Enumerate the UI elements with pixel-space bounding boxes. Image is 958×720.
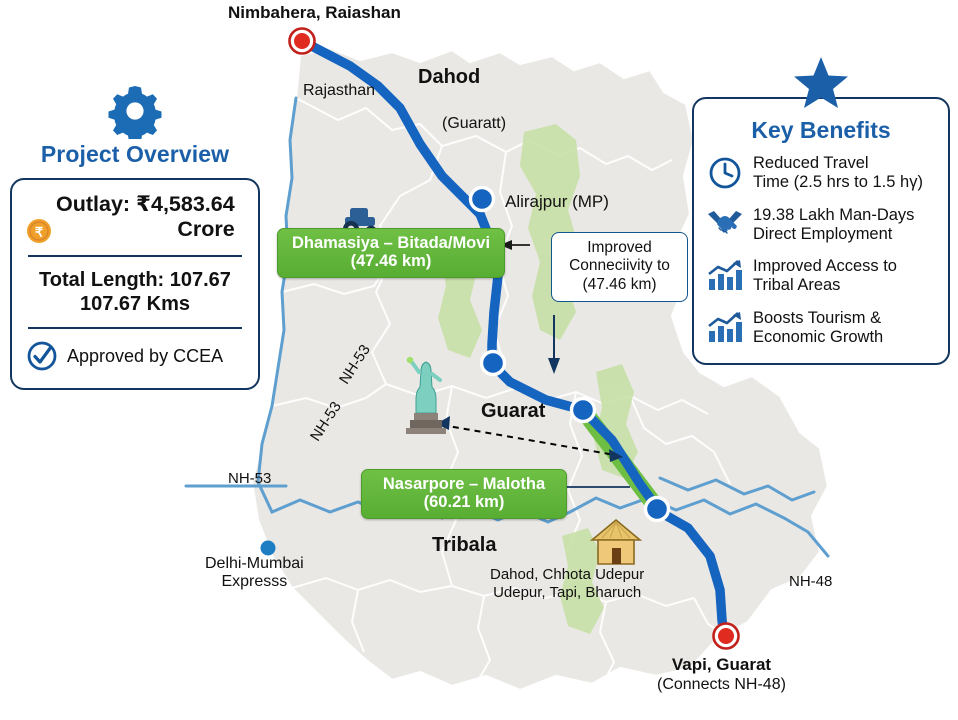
label-nh53-horizontal: NH-53 (228, 470, 271, 487)
label-vapi-line2: (Connects NH-48) (657, 675, 786, 694)
handshake-icon (706, 206, 744, 236)
route-end-marker-icon (714, 624, 739, 649)
label-delhi-mumbai-line2: Expresss (205, 573, 304, 591)
label-hut-line1: Dahod, Chhota Udepur (490, 566, 644, 584)
length-line1: Total Length: 107.67 (26, 268, 244, 292)
outlay-value: Outlay: ₹4,583.64 Crore (52, 192, 235, 243)
benefit-3-line1: Improved Access to (753, 257, 897, 276)
label-nimbahera: Nimbahera, Raiashan (228, 3, 401, 23)
callout-improved-line3: (47.46 km) (557, 276, 682, 294)
benefit-1-line1: Reduced Travel (753, 154, 923, 173)
star-icon (792, 55, 850, 111)
label-gujarat: (Guaratt) (442, 115, 506, 133)
callout-improved-line1: Improved (557, 239, 682, 257)
benefit-1-line2: Time (2.5 hrs to 1.5 hγ) (753, 173, 923, 192)
outlay-line1: Outlay: ₹4,583.64 (56, 192, 235, 217)
label-delhi-mumbai-line1: Delhi-Mumbai (205, 555, 304, 573)
callout-improved-connectivity: Improved Conneciivity to (47.46 km) (551, 232, 688, 302)
bar-chart-up-icon (706, 257, 744, 291)
project-overview-panel: Project Overview ₹ Outlay: ₹4,583.64 Cro… (10, 83, 260, 390)
label-delhi-mumbai-express: Delhi-Mumbai Expresss (205, 555, 304, 592)
callout-improved-line2: Conneciivity to (557, 257, 682, 275)
project-overview-title: Project Overview (10, 141, 260, 168)
benefit-3-line2: Tribal Areas (753, 276, 897, 295)
label-dahod: Dahod (418, 66, 480, 89)
benefit-4-line2: Economic Growth (753, 328, 883, 347)
label-hut-line2: Udepur, Tapi, Bharuch (490, 584, 644, 602)
benefit-2-line1: 19.38 Lakh Man-Days (753, 206, 914, 225)
label-tribal-districts: Dahod, Chhota Udepur Udepur, Tapi, Bharu… (490, 566, 644, 602)
label-rajasthan: Rajasthan (303, 82, 375, 100)
label-nh48: NH-48 (789, 573, 832, 590)
check-circle-icon (26, 340, 58, 372)
callout-dhamasiya-bitada: Dhamasiya – Bitada/Movi (47.46 km) (277, 228, 505, 278)
benefit-4-line1: Boosts Tourism & (753, 309, 883, 328)
key-benefits-card: Key Benefits Reduced Travel Time (2.5 hr… (692, 97, 950, 365)
gear-icon (107, 83, 163, 139)
outlay-row: ₹ Outlay: ₹4,583.64 Crore (26, 192, 244, 244)
label-guarat: Guarat (481, 400, 545, 423)
callout-dhamasiya-line1: Dhamasiya – Bitada/Movi (282, 234, 500, 252)
bar-chart-up-icon (706, 309, 744, 343)
key-benefits-title: Key Benefits (706, 117, 936, 144)
benefit-tribal-access: Improved Access to Tribal Areas (706, 257, 936, 296)
divider-2 (28, 327, 242, 329)
benefit-reduced-travel-time: Reduced Travel Time (2.5 hrs to 1.5 hγ) (706, 154, 936, 193)
benefit-direct-employment: 19.38 Lakh Man-Days Direct Employment (706, 206, 936, 245)
delhi-mumbai-express-node (261, 541, 276, 556)
benefit-tourism-growth: Boosts Tourism & Economic Growth (706, 309, 936, 348)
route-start-marker-icon (290, 29, 315, 54)
divider-1 (28, 255, 242, 257)
label-vapi-line1: Vapi, Guarat (657, 655, 786, 675)
svg-text:₹: ₹ (35, 225, 44, 240)
label-alirajpur: Alirajpur (MP) (505, 192, 609, 212)
infographic-root: Nimbahera, Raiashan Rajasthan Dahod (Gua… (0, 0, 958, 720)
label-tribala: Tribala (432, 534, 496, 557)
length-line2: 107.67 Kms (26, 292, 244, 316)
approved-row: Approved by CCEA (26, 340, 244, 372)
benefit-2-line2: Direct Employment (753, 225, 914, 244)
label-vapi: Vapi, Guarat (Connects NH-48) (657, 655, 786, 695)
approved-label: Approved by CCEA (67, 346, 223, 367)
rupee-coin-icon: ₹ (26, 218, 52, 244)
outlay-line2: Crore (56, 217, 235, 242)
clock-icon (706, 154, 744, 190)
key-benefits-panel: Key Benefits Reduced Travel Time (2.5 hr… (692, 55, 950, 365)
total-length-value: Total Length: 107.67 107.67 Kms (26, 268, 244, 316)
callout-nasarpore-line2: (60.21 km) (366, 493, 562, 511)
callout-dhamasiya-line2: (47.46 km) (282, 252, 500, 270)
callout-nasarpore-malotha: Nasarpore – Malotha (60.21 km) (361, 469, 567, 519)
project-overview-card: ₹ Outlay: ₹4,583.64 Crore Total Length: … (10, 178, 260, 390)
callout-nasarpore-line1: Nasarpore – Malotha (366, 475, 562, 493)
